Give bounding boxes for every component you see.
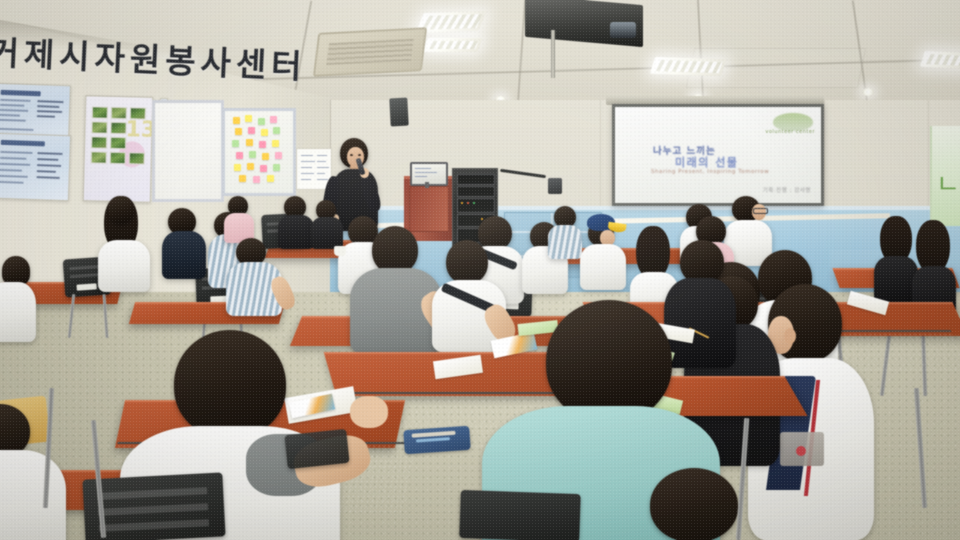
torso [98,240,150,292]
ceiling-light-panel [650,57,727,77]
slide-footer: 기획·진행 : 강사명 [763,186,811,194]
collage-photo [91,121,107,133]
slide-subtitle: Sharing Present, Inspiring Tomorrow [651,169,769,175]
ceiling-light-panel [920,51,960,70]
head [478,216,512,250]
slide-title-line2: 미래의 선물 [675,154,738,170]
wall-speaker-secondary [548,178,562,194]
collage-photo [130,107,146,119]
projection-screen-surface: volunteer center 나누고 느끼는 미래의 선물 Sharing … [615,107,821,203]
torso [0,450,66,540]
collage-photo [92,106,108,118]
lectern-front-panel [409,186,449,232]
whiteboard-blank [152,100,224,202]
banner-glyph: ㄴ [936,165,956,205]
torso [0,282,36,342]
paper-cup[interactable] [334,246,346,256]
sticky-note-board [222,108,296,196]
head [372,226,418,274]
photo-collage-poster: 13 [83,95,154,203]
head [174,330,286,438]
chair[interactable] [284,429,349,469]
collage-photo [129,152,145,164]
projection-screen: volunteer center 나누고 느끼는 미래의 선물 Sharing … [612,104,824,206]
pencil-case[interactable] [403,426,471,455]
collage-photo [110,122,126,134]
torso [664,278,736,368]
ceiling-light-panel [422,38,482,52]
collage-photo [111,107,127,119]
wall-seam [600,100,601,210]
ceiling-downlight [862,88,874,96]
ear-icon [784,328,796,344]
wall-speaker [389,98,408,127]
torso [548,225,582,259]
head [546,300,672,422]
torso [311,217,343,249]
projector-lens-icon [610,22,636,38]
collage-photo [110,137,126,149]
lectern-monitor [410,162,448,186]
head [108,196,134,223]
torso [162,231,206,279]
hand [350,396,388,428]
head [446,240,488,284]
head [650,468,738,540]
ceiling-ac-vent [313,27,427,77]
uniform-emblem-badge [796,446,806,456]
program-poster-blue [0,133,71,202]
projector-mount-pole [551,30,555,78]
chair-foreground[interactable] [459,490,581,540]
torso [278,215,314,249]
collage-photo [91,136,107,148]
glasses-icon [753,208,768,214]
slide-logo-text: volunteer center [765,129,815,135]
collage-photo [110,152,126,164]
torso [580,244,626,290]
monitor-stem [425,182,429,188]
collage-photo [91,151,107,163]
classroom-photo: ㄴ 거제시자원봉사센터 13 [0,0,960,540]
